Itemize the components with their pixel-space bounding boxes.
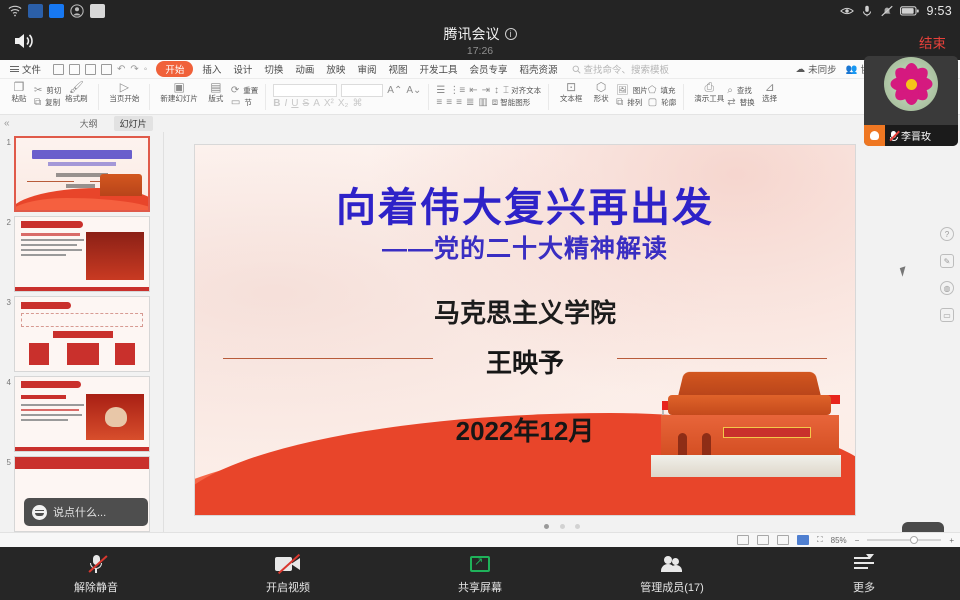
fill-icon: ⬠: [648, 85, 657, 96]
paste-icon: ❐: [14, 81, 25, 94]
present-tools-button[interactable]: ⎙ 演示工具: [691, 80, 727, 104]
strikethrough-button[interactable]: S: [303, 98, 310, 109]
info-icon[interactable]: i: [505, 28, 517, 40]
help-icon[interactable]: ?: [940, 227, 954, 241]
textbox-label: 文本框: [560, 94, 583, 103]
zoom-fit-icon[interactable]: ⛶: [817, 535, 823, 545]
mic-icon: [860, 4, 874, 18]
tab-docer[interactable]: 稻壳资源: [514, 62, 564, 76]
group-clipboard: ❐ 粘贴 ✂ 剪切 ⧉ 复制 🖌 格式刷: [0, 80, 95, 114]
group-insert: ⊡ 文本框 ⬡ 形状 🖼 图片 ⧉ 排列: [552, 80, 680, 114]
tab-member[interactable]: 会员专享: [463, 62, 513, 76]
fill-button[interactable]: ⬠ 填充: [648, 85, 676, 96]
meeting-title-row[interactable]: 腾讯会议 i: [444, 24, 517, 44]
select-button[interactable]: ⊿ 选择: [755, 80, 785, 104]
print-icon[interactable]: [85, 64, 96, 75]
smartart-label: 智能图形: [500, 98, 530, 107]
thumbnail-1[interactable]: [14, 136, 150, 212]
manage-participants-button[interactable]: 管理成员(17): [576, 553, 768, 595]
reset-label: 重置: [243, 85, 258, 96]
collab-icon: 👥: [846, 64, 858, 75]
find-button[interactable]: ⌕ 查找: [727, 85, 754, 96]
find-label: 查找: [737, 85, 752, 96]
sync-label: 未同步: [808, 62, 837, 76]
chat-input[interactable]: 说点什么...: [24, 498, 148, 526]
replace-button[interactable]: ⇄ 替换: [727, 97, 754, 108]
status-left-icons: [8, 4, 105, 18]
bold-button[interactable]: B: [273, 98, 280, 109]
play-label: 当页开始: [109, 94, 139, 103]
slide-title: 向着伟大复兴再出发: [195, 175, 855, 233]
meeting-title-block: 腾讯会议 i 17:26: [0, 24, 960, 57]
normal-view-icon[interactable]: [737, 535, 749, 545]
copy-button[interactable]: ⧉ 复制: [34, 97, 61, 108]
thumbnail-item[interactable]: 4: [0, 372, 163, 452]
start-video-button[interactable]: 开启视频: [192, 553, 384, 595]
divider: [149, 84, 150, 110]
present-tools-icon: ⎙: [704, 81, 714, 94]
divider: [428, 84, 429, 110]
smartart-icon: ⧈: [492, 97, 498, 108]
manage-participants-label: 管理成员(17): [640, 579, 704, 595]
find-replace-buttons: ⌕ 查找 ⇄ 替换: [727, 80, 754, 112]
zoom-slider[interactable]: [867, 539, 941, 541]
cut-label: 剪切: [46, 85, 61, 96]
participant-name-row: 李晋玫: [885, 125, 958, 146]
increase-indent-icon[interactable]: ⇥: [482, 85, 490, 96]
slide-stage: 向着伟大复兴再出发 ——党的二十大精神解读 马克思主义学院 王映予 2022年1…: [164, 132, 960, 600]
flower-center: [906, 79, 917, 90]
slide-subtitle: ——党的二十大精神解读: [195, 229, 855, 265]
ribbon-tab-bar: 文件 ↶ ↷ ◦ 开始 插入 设计 切换 动画 放映 审阅 视图 开发工具 会员…: [0, 60, 960, 79]
zoom-out-icon[interactable]: −: [855, 536, 860, 545]
new-slide-button[interactable]: ▣ 新建幻灯片: [157, 80, 201, 104]
status-right: ⛶ 85% − +: [737, 535, 954, 545]
thumbnail-4[interactable]: [14, 376, 150, 452]
align-center-icon[interactable]: ≡: [446, 97, 452, 108]
section-label: 节: [244, 97, 252, 108]
app-badge-icon: [28, 4, 43, 18]
columns-icon[interactable]: ▥: [478, 97, 487, 108]
tab-insert[interactable]: 插入: [196, 62, 227, 76]
tab-view[interactable]: 视图: [382, 62, 413, 76]
replace-label: 替换: [740, 97, 755, 108]
format-brush-button[interactable]: 🖌 格式刷: [61, 80, 91, 104]
sync-status[interactable]: ☁ 未同步: [796, 62, 837, 76]
feedback-icon[interactable]: ✎: [940, 254, 954, 268]
save-icon[interactable]: [53, 64, 64, 75]
print-preview-icon[interactable]: [101, 64, 112, 75]
paragraph-row-1: ☰ ⋮≡ ⇤ ⇥ ↕ ⌶ 对齐文本: [436, 85, 541, 96]
section-icon: ▭: [231, 97, 240, 108]
slide-presenter: 王映予: [195, 343, 855, 380]
section-button[interactable]: ▭ 节: [231, 97, 258, 108]
tab-start[interactable]: 开始: [156, 61, 193, 77]
format-brush-label: 格式刷: [65, 94, 88, 103]
slideshow-view-icon[interactable]: [797, 535, 809, 545]
slide-date: 2022年12月: [195, 411, 855, 448]
sorter-view-icon[interactable]: [757, 535, 769, 545]
unmute-label: 解除静音: [74, 579, 118, 595]
thumbnail-item[interactable]: 2: [0, 212, 163, 292]
image-icon: 🖼: [616, 85, 629, 96]
screen: 9:53 腾讯会议 i 17:26 结束 文件: [0, 0, 960, 600]
thumbnail-number: 4: [2, 376, 14, 387]
font-color-button[interactable]: A: [313, 98, 320, 109]
start-video-label: 开启视频: [266, 579, 310, 595]
slide-thumbnail-panel[interactable]: 1 2: [0, 132, 164, 600]
status-clock: 9:53: [926, 4, 952, 18]
bell-off-icon: [880, 4, 894, 18]
tab-design[interactable]: 设计: [227, 62, 258, 76]
thumbnail-number: 1: [2, 136, 14, 147]
presentation-icon[interactable]: ▭: [940, 308, 954, 322]
divider: [548, 84, 549, 110]
fill-outline-buttons: ⬠ 填充 ▢ 轮廓: [648, 80, 676, 112]
copy-icon: ⧉: [34, 97, 41, 108]
meeting-header: 腾讯会议 i 17:26 结束: [0, 22, 960, 60]
paragraph-controls: ☰ ⋮≡ ⇤ ⇥ ↕ ⌶ 对齐文本 ≡ ≡ ≡ ≣: [436, 80, 541, 112]
share-screen-icon: [470, 553, 490, 575]
save-cloud-icon[interactable]: [69, 64, 80, 75]
tab-transition[interactable]: 切换: [258, 62, 289, 76]
image-label: 图片: [633, 85, 648, 96]
eye-icon: [840, 4, 854, 18]
smiley-icon[interactable]: [32, 505, 47, 520]
paragraph-row-2: ≡ ≡ ≡ ≣ ▥ ⧈ 智能图形: [436, 97, 541, 108]
image-button[interactable]: 🖼 图片: [616, 85, 648, 96]
select-icon: ⊿: [765, 81, 775, 94]
meeting-toolbar: 解除静音 开启视频 共享屏幕 管理成员(17) 更多: [0, 547, 960, 600]
numbered-list-icon[interactable]: ⋮≡: [449, 85, 465, 96]
shape-icon: ⬡: [596, 81, 606, 94]
wps-office-window: 文件 ↶ ↷ ◦ 开始 插入 设计 切换 动画 放映 审阅 视图 开发工具 会员…: [0, 60, 960, 547]
outline-label: 轮廓: [661, 97, 676, 108]
more-icon: [854, 553, 874, 575]
slide-canvas[interactable]: 向着伟大复兴再出发 ——党的二十大精神解读 马克思主义学院 王映予 2022年1…: [194, 144, 856, 516]
app-badge-active-icon: [49, 4, 64, 18]
thumbnail-3[interactable]: [14, 296, 150, 372]
superscript-icon[interactable]: X²: [324, 98, 334, 109]
tab-file-label: 文件: [22, 62, 41, 76]
arrange-label: 排列: [627, 97, 642, 108]
thumbnail-item[interactable]: 1: [0, 132, 163, 212]
play-icon: ▷: [120, 81, 129, 94]
participant-name: 李晋玫: [901, 128, 931, 143]
tab-review[interactable]: 审阅: [351, 62, 382, 76]
thumbnail-2[interactable]: [14, 216, 150, 292]
camera-off-icon: [275, 553, 301, 575]
fill-label: 填充: [661, 85, 676, 96]
globe-icon[interactable]: ◍: [940, 281, 954, 295]
unmute-button[interactable]: 解除静音: [0, 553, 192, 595]
redo-icon[interactable]: ↷: [130, 64, 138, 75]
more-button[interactable]: 更多: [768, 553, 960, 595]
sync-icon: ☁: [796, 64, 806, 75]
group-slides: ▣ 新建幻灯片 ▤ 版式 ⟳ 重置 ▭ 节: [153, 80, 262, 114]
clipboard-small-buttons: ✂ 剪切 ⧉ 复制: [34, 80, 61, 112]
share-screen-label: 共享屏幕: [458, 579, 502, 595]
decrease-font-icon[interactable]: A⌄: [406, 85, 421, 96]
line-spacing-icon[interactable]: ↕: [494, 85, 499, 96]
command-search-placeholder: 查找命令、搜索模板: [584, 62, 670, 76]
shape-label: 形状: [594, 94, 609, 103]
reading-view-icon[interactable]: [777, 535, 789, 545]
ribbon-toolbar: ❐ 粘贴 ✂ 剪切 ⧉ 复制 🖌 格式刷: [0, 79, 960, 115]
group-present: ▷ 当页开始: [102, 80, 146, 114]
layout-label: 版式: [208, 94, 223, 103]
align-right-icon[interactable]: ≡: [456, 97, 462, 108]
tab-developer[interactable]: 开发工具: [413, 62, 463, 76]
arrange-button[interactable]: ⧉ 排列: [616, 97, 648, 108]
align-text-label: 对齐文本: [511, 86, 541, 95]
thumbnail-number: 5: [2, 456, 14, 467]
italic-button[interactable]: I: [285, 98, 288, 109]
layout-button[interactable]: ▤ 版式: [201, 80, 231, 104]
search-icon: [572, 65, 581, 74]
panel-tabs: « 大纲 幻灯片: [0, 115, 960, 132]
tab-slides[interactable]: 幻灯片: [114, 116, 153, 131]
smartart-button[interactable]: ⧈ 智能图形: [492, 97, 530, 108]
textbox-icon: ⊡: [566, 81, 576, 94]
tab-animation[interactable]: 动画: [289, 62, 320, 76]
insert-small-buttons: 🖼 图片 ⧉ 排列: [616, 80, 648, 112]
more-label: 更多: [853, 579, 875, 595]
present-tools-label: 演示工具: [694, 94, 724, 103]
qat-more-icon[interactable]: ◦: [144, 64, 148, 75]
font-size-input[interactable]: [341, 84, 383, 97]
menu-icon: [10, 64, 19, 73]
align-text-button[interactable]: ⌶ 对齐文本: [503, 85, 541, 96]
mic-muted-icon: [889, 130, 898, 142]
right-tool-rail: ? ✎ ◍ ▭: [936, 227, 958, 322]
justify-icon[interactable]: ≣: [466, 97, 474, 108]
wifi-icon: [8, 4, 22, 18]
new-slide-icon: ▣: [173, 81, 184, 94]
font-controls: A⌃ A⌄ B I U S A X² X₂ ⌘: [273, 80, 421, 112]
divider: [98, 84, 99, 110]
wps-work-area: « 大纲 幻灯片 1: [0, 115, 960, 600]
command-search[interactable]: 查找命令、搜索模板: [564, 62, 670, 76]
cut-button[interactable]: ✂ 剪切: [34, 85, 61, 96]
arrange-icon: ⧉: [616, 97, 623, 108]
zoom-level[interactable]: 85%: [831, 536, 847, 545]
quick-access-toolbar: ↶ ↷ ◦: [47, 64, 153, 75]
divider: [683, 84, 684, 110]
wps-status-bar: ⛶ 85% − +: [0, 532, 960, 547]
align-left-icon[interactable]: ≡: [436, 97, 442, 108]
battery-icon: [900, 4, 920, 18]
paste-label: 粘贴: [12, 94, 27, 103]
bullet-list-icon[interactable]: ☰: [436, 85, 445, 96]
end-meeting-button[interactable]: 结束: [919, 32, 946, 52]
participant-video-tile[interactable]: 李晋玫: [864, 56, 958, 146]
reset-button[interactable]: ⟳ 重置: [231, 85, 258, 96]
underline-button[interactable]: U: [291, 98, 298, 109]
paste-button[interactable]: ❐ 粘贴: [4, 80, 34, 104]
outline-icon: ▢: [648, 97, 657, 108]
align-text-icon: ⌶: [503, 85, 509, 96]
tab-outline[interactable]: 大纲: [74, 116, 104, 131]
replace-icon: ⇄: [727, 97, 735, 108]
meeting-elapsed: 17:26: [0, 45, 960, 57]
thumbnail-number: 2: [2, 216, 14, 227]
font-row: A⌃ A⌄: [273, 84, 421, 97]
mic-muted-icon: [89, 553, 103, 575]
cursor-badge-icon: [90, 4, 105, 18]
meeting-title: 腾讯会议: [444, 24, 500, 44]
subscript-icon[interactable]: X₂: [338, 98, 349, 109]
play-from-current-button[interactable]: ▷ 当页开始: [106, 80, 142, 104]
select-label: 选择: [762, 94, 777, 103]
android-status-bar: 9:53: [0, 0, 960, 22]
host-icon: [864, 125, 885, 146]
slides-small-buttons: ⟳ 重置 ▭ 节: [231, 80, 258, 112]
participant-label-bar: 李晋玫: [864, 125, 958, 146]
shape-button[interactable]: ⬡ 形状: [586, 80, 616, 104]
group-paragraph: ☰ ⋮≡ ⇤ ⇥ ↕ ⌶ 对齐文本 ≡ ≡ ≡ ≣: [432, 80, 545, 114]
outline-button[interactable]: ▢ 轮廓: [648, 97, 676, 108]
zoom-in-icon[interactable]: +: [949, 536, 954, 545]
font-name-input[interactable]: [273, 84, 337, 97]
increase-font-icon[interactable]: A⌃: [387, 85, 402, 96]
thumbnail-item[interactable]: 3: [0, 292, 163, 372]
slide-organization: 马克思主义学院: [195, 293, 855, 330]
undo-icon[interactable]: ↶: [117, 64, 125, 75]
layout-icon: ▤: [210, 81, 221, 94]
search-icon: ⌕: [727, 85, 733, 96]
avatar: [884, 57, 938, 111]
format-brush-icon: 🖌: [69, 81, 84, 94]
tab-file[interactable]: 文件: [4, 62, 47, 76]
reset-icon: ⟳: [231, 85, 239, 96]
chat-placeholder: 说点什么...: [53, 504, 106, 520]
account-icon: [70, 4, 84, 18]
copy-label: 复制: [45, 97, 60, 108]
group-font: A⌃ A⌄ B I U S A X² X₂ ⌘: [269, 80, 425, 114]
new-slide-label: 新建幻灯片: [160, 94, 198, 103]
participants-icon: [661, 553, 683, 575]
textbox-button[interactable]: ⊡ 文本框: [556, 80, 586, 104]
thumbnail-number: 3: [2, 296, 14, 307]
divider: [265, 84, 266, 110]
decrease-indent-icon[interactable]: ⇤: [469, 85, 477, 96]
share-screen-button[interactable]: 共享屏幕: [384, 553, 576, 595]
scissors-icon: ✂: [34, 85, 42, 96]
zoom-slider-knob[interactable]: [910, 536, 918, 544]
format-row: B I U S A X² X₂ ⌘: [273, 98, 421, 109]
gate-base: [651, 455, 841, 477]
status-right-icons: 9:53: [840, 4, 952, 18]
collapse-panel-icon[interactable]: «: [4, 118, 10, 129]
group-edit: ⎙ 演示工具 ⌕ 查找 ⇄ 替换 ⊿ 选择: [687, 80, 788, 114]
tab-slideshow[interactable]: 放映: [320, 62, 351, 76]
text-effect-icon[interactable]: ⌘: [352, 98, 362, 109]
